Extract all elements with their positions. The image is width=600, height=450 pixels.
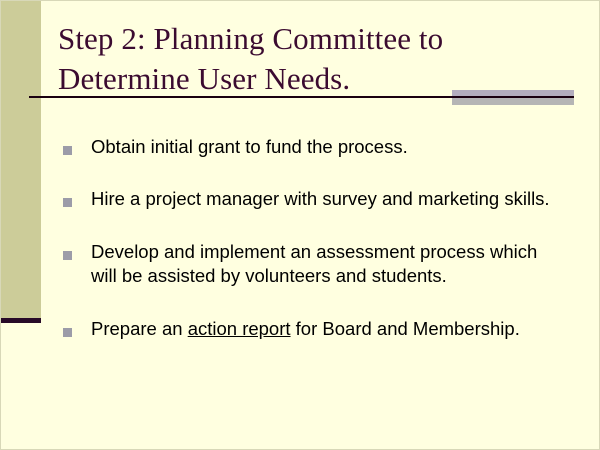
left-band-end-cap: [1, 318, 41, 323]
title-block: Step 2: Planning Committee to Determine …: [58, 19, 578, 98]
list-item: Obtain initial grant to fund the process…: [63, 135, 563, 159]
presentation-slide: Step 2: Planning Committee to Determine …: [0, 0, 600, 450]
slide-title: Step 2: Planning Committee to Determine …: [58, 19, 578, 98]
action-report-emphasis: action report: [188, 318, 291, 339]
bullet-text: Hire a project manager with survey and m…: [91, 187, 563, 211]
left-decorative-band: [1, 1, 41, 318]
square-bullet-icon: [63, 328, 72, 337]
list-item: Develop and implement an assessment proc…: [63, 240, 563, 289]
bullet-text: Prepare an action report for Board and M…: [91, 317, 563, 341]
square-bullet-icon: [63, 198, 72, 207]
list-item: Hire a project manager with survey and m…: [63, 187, 563, 211]
bullet-text-prefix: Prepare an: [91, 318, 188, 339]
title-accent-bar-lower: [452, 98, 574, 105]
bullet-list: Obtain initial grant to fund the process…: [63, 135, 563, 369]
list-item: Prepare an action report for Board and M…: [63, 317, 563, 341]
square-bullet-icon: [63, 146, 72, 155]
square-bullet-icon: [63, 251, 72, 260]
bullet-text-suffix: for Board and Membership.: [291, 318, 520, 339]
bullet-text: Develop and implement an assessment proc…: [91, 240, 563, 289]
bullet-text: Obtain initial grant to fund the process…: [91, 135, 563, 159]
title-divider-rule: [29, 96, 574, 98]
